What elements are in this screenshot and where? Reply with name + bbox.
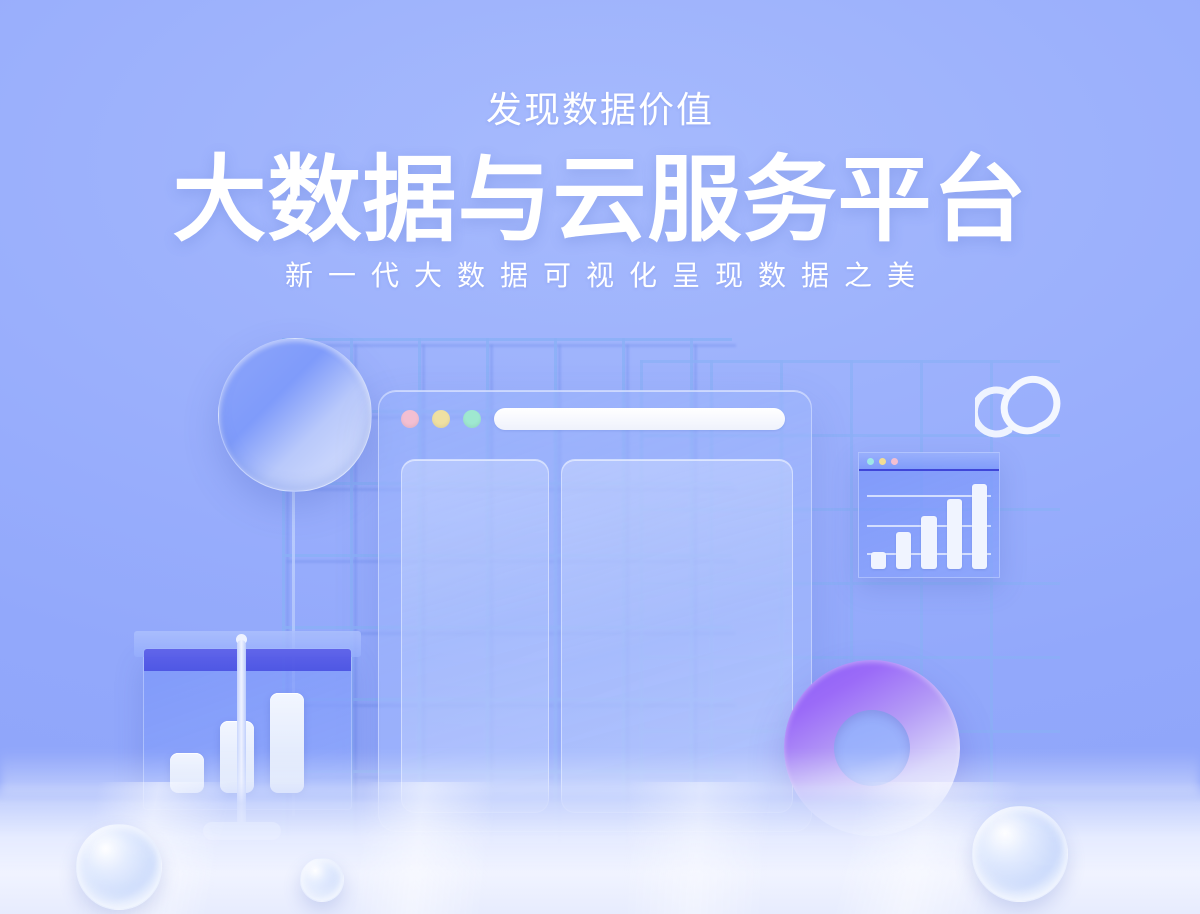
mini-bar [896, 532, 911, 569]
glass-sphere-left [76, 824, 162, 910]
address-bar[interactable] [494, 408, 785, 430]
minimize-dot[interactable] [432, 410, 450, 428]
mini-bar [972, 484, 987, 569]
mini-bar [871, 552, 886, 569]
browser-titlebar [379, 391, 811, 447]
page-title: 大数据与云服务平台 [0, 128, 1200, 248]
glass-disc [218, 338, 372, 492]
cloud-icon [975, 360, 1071, 448]
mini-chart-plot [859, 471, 999, 577]
close-dot[interactable] [401, 410, 419, 428]
card-header-band [144, 649, 351, 671]
mini-dot-cyan[interactable] [867, 458, 874, 465]
mini-titlebar [859, 453, 999, 471]
hero-banner: 发现数据价值 大数据与云服务平台 新一代大数据可视化呈现数据之美 [0, 0, 1200, 914]
mini-dot-pink[interactable] [891, 458, 898, 465]
mini-bar-series [871, 477, 987, 569]
maximize-dot[interactable] [463, 410, 481, 428]
mini-chart-window[interactable] [858, 452, 1000, 578]
hero-text: 发现数据价值 大数据与云服务平台 新一代大数据可视化呈现数据之美 [0, 0, 1200, 290]
mini-bar [947, 499, 962, 569]
mini-bar [921, 516, 936, 569]
hero-subtitle: 新一代大数据可视化呈现数据之美 [0, 248, 1200, 290]
mini-dot-yellow[interactable] [879, 458, 886, 465]
glass-sphere-right [972, 806, 1068, 902]
hero-eyebrow: 发现数据价值 [0, 0, 1200, 128]
glass-sphere-small [300, 858, 344, 902]
